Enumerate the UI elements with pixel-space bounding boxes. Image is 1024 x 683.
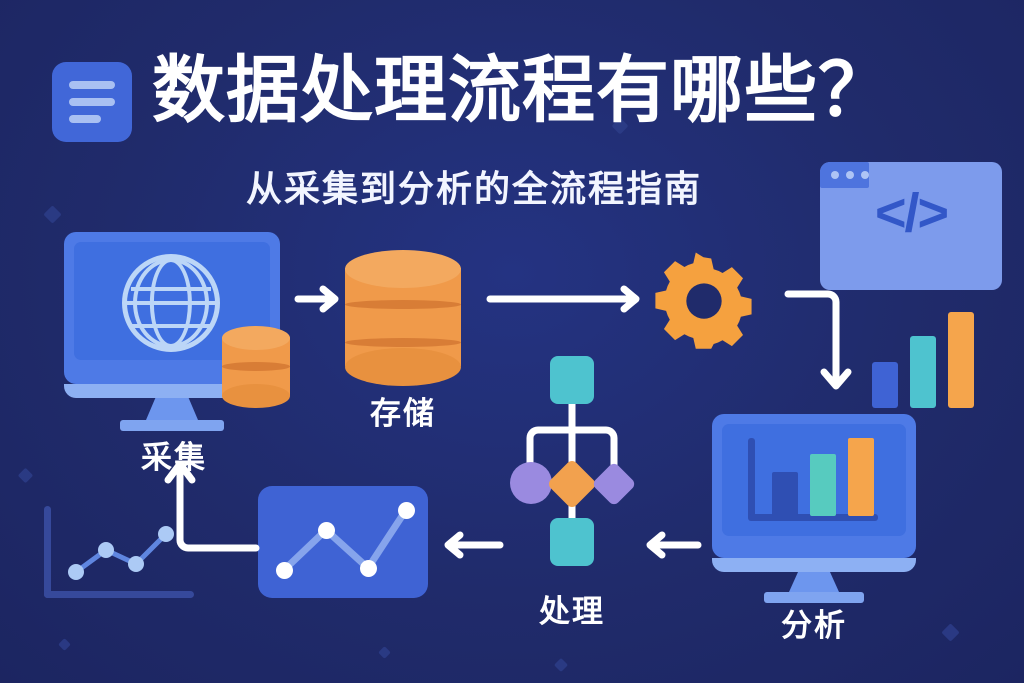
database-cylinder-icon: [222, 326, 290, 408]
chart-bar: [772, 472, 798, 516]
cylinder-band: [345, 338, 461, 347]
flow-diagram-icon: [506, 356, 638, 568]
arrow-left-icon: [640, 528, 704, 562]
node-label-storage: 存储: [313, 388, 493, 433]
node-label-process: 处理: [492, 586, 652, 631]
cylinder-top: [222, 326, 290, 350]
window-dot-icon: [861, 171, 869, 179]
arrow-right-icon: [296, 282, 346, 316]
cylinder-bottom: [345, 348, 461, 386]
globe-latitude: [131, 324, 211, 328]
monitor-neck: [146, 398, 198, 420]
flow-node-square-bottom: [550, 518, 594, 566]
cylinder-top: [345, 250, 461, 288]
globe-latitude: [131, 287, 211, 291]
window-dot-icon: [831, 171, 839, 179]
flow-node-square-top: [550, 356, 594, 404]
deco-bar: [872, 362, 898, 408]
deco-chart-dot: [158, 526, 174, 542]
deco-diamond: [18, 468, 34, 484]
line-chart-dot: [276, 562, 293, 579]
deco-bar: [910, 336, 936, 408]
cylinder-band: [345, 300, 461, 309]
deco-chart-dot: [98, 542, 114, 558]
window-dot-icon: [846, 171, 854, 179]
code-window-titlebar: [820, 162, 869, 188]
line-chart-card-icon: [258, 486, 428, 598]
chart-bar: [810, 454, 836, 516]
arrow-right-long-icon: [488, 282, 648, 316]
chart-y-axis: [748, 438, 755, 520]
deco-bar: [948, 312, 974, 408]
code-symbol: </>: [875, 186, 947, 240]
monitor-neck: [789, 572, 839, 592]
logo-line: [69, 81, 115, 89]
deco-chart-line: [44, 506, 204, 616]
arrow-left-icon: [438, 528, 506, 562]
deco-diamond: [554, 658, 568, 672]
cylinder-bottom: [222, 384, 290, 408]
monitor-base: [120, 420, 224, 431]
deco-chart-dot: [128, 556, 144, 572]
database-cylinder-icon-large: [345, 250, 461, 386]
deco-bar-chart: [872, 310, 976, 408]
globe-icon: [122, 254, 220, 352]
line-chart-dot: [360, 560, 377, 577]
deco-diamond: [43, 205, 61, 223]
monitor-screen: [722, 424, 906, 536]
document-lines-icon: [52, 62, 132, 142]
deco-diamond: [58, 638, 71, 651]
monitor-barchart-icon: [712, 414, 916, 592]
globe-meridian: [133, 258, 209, 348]
line-chart-dot: [398, 502, 415, 519]
logo-line: [69, 115, 101, 123]
deco-diamond: [378, 646, 391, 659]
deco-diamond: [941, 623, 959, 641]
code-window-icon: </>: [820, 162, 1002, 290]
chart-bar: [848, 438, 874, 516]
cylinder-band: [222, 362, 290, 371]
deco-axis-line-chart: [44, 506, 204, 616]
deco-chart-dot: [68, 564, 84, 580]
flow-node-circle-left: [510, 462, 552, 504]
gear-icon: [652, 248, 756, 352]
line-chart-dot: [318, 522, 335, 539]
arrow-elbow-down-icon: [784, 288, 864, 400]
monitor-frame: [712, 414, 916, 558]
page-title: 数据处理流程有哪些？: [152, 52, 952, 131]
logo-line: [69, 98, 115, 106]
infographic-canvas: 数据处理流程有哪些？ 从采集到分析的全流程指南 </>: [0, 0, 1024, 683]
monitor-chin: [712, 558, 916, 572]
node-label-analyze: 分析: [724, 600, 904, 645]
